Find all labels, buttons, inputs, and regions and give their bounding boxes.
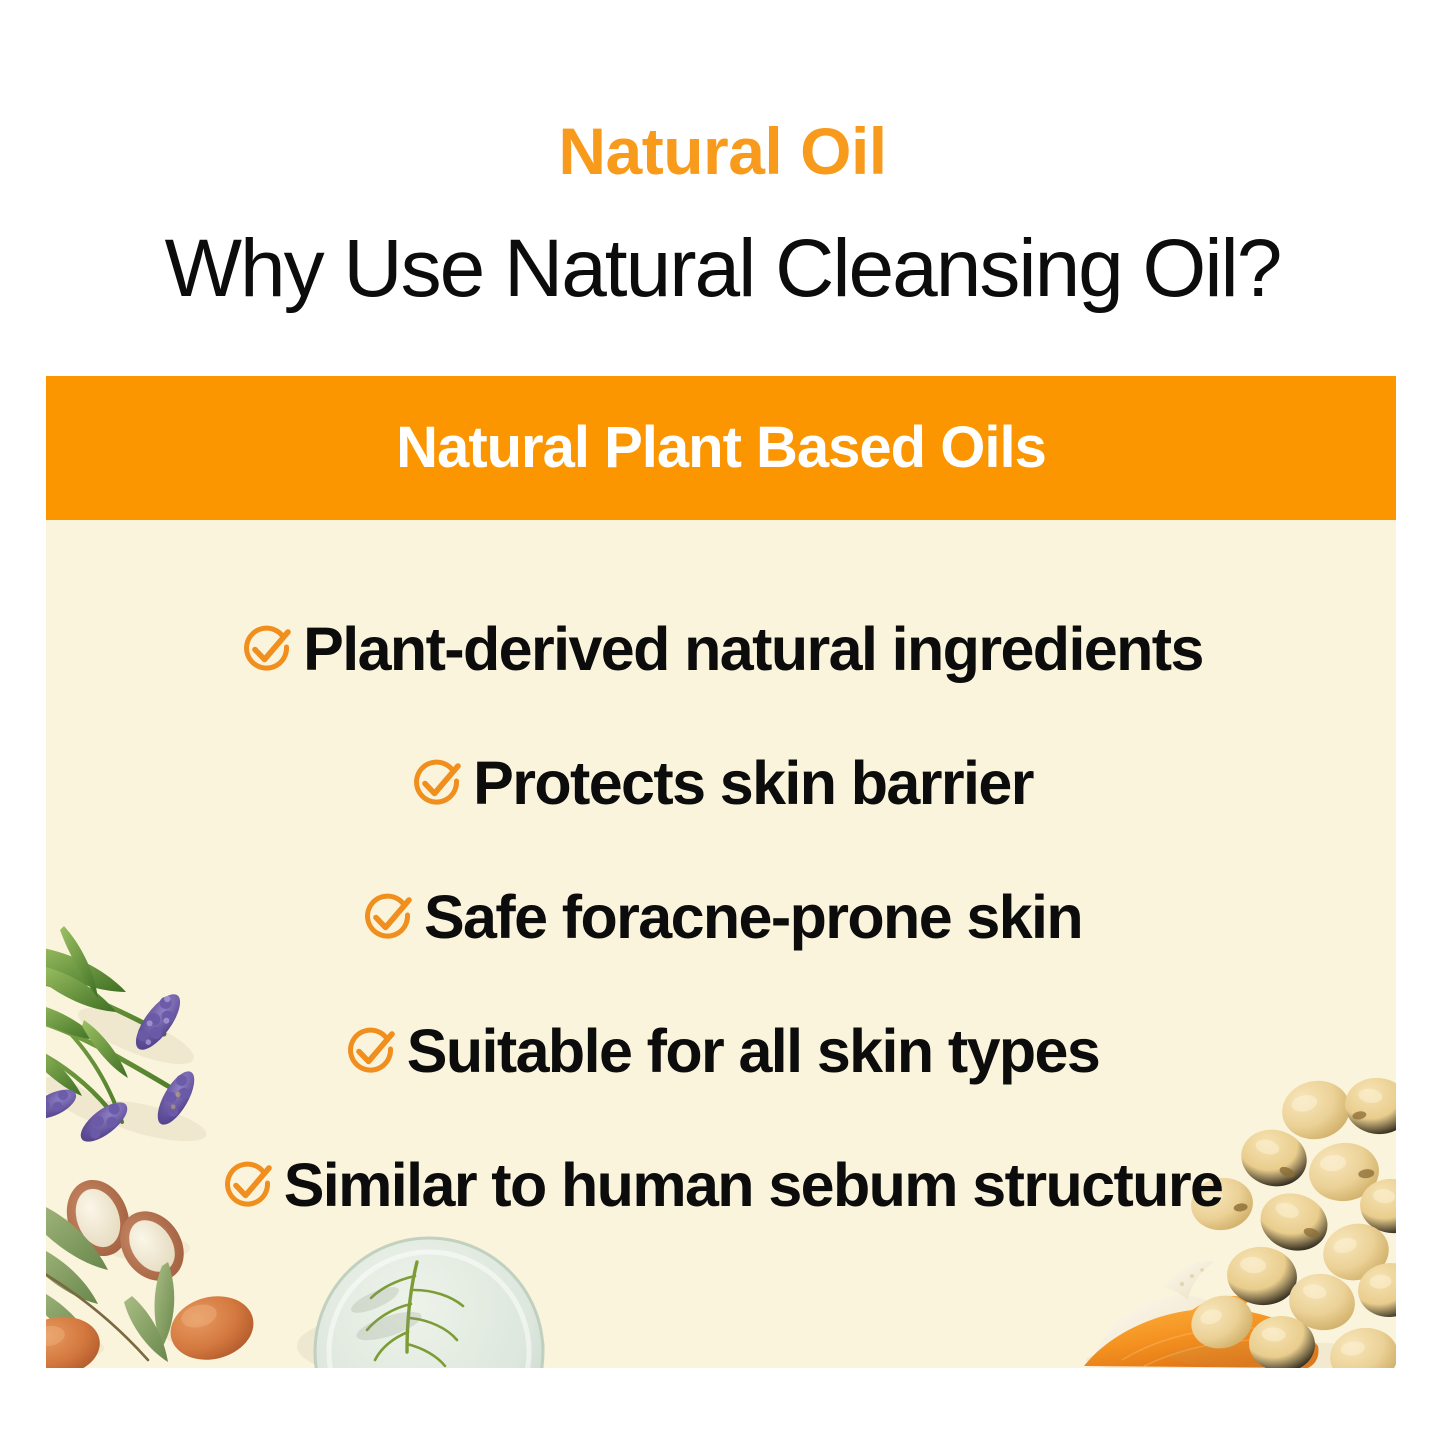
list-item-label: Suitable for all skin types: [407, 1021, 1099, 1082]
page-title: Why Use Natural Cleansing Oil?: [0, 228, 1445, 310]
list-item-label: Safe foracne-prone skin: [424, 887, 1082, 948]
benefits-card: Natural Plant Based Oils: [46, 376, 1396, 1368]
check-circle-icon: [239, 621, 295, 677]
infographic-page: Natural Oil Why Use Natural Cleansing Oi…: [0, 0, 1445, 1445]
heading-block: Natural Oil Why Use Natural Cleansing Oi…: [0, 118, 1445, 310]
list-item-label: Plant-derived natural ingredients: [303, 619, 1203, 680]
check-circle-icon: [360, 889, 416, 945]
list-item: Safe foracne-prone skin: [46, 850, 1396, 984]
list-item: Protects skin barrier: [46, 716, 1396, 850]
list-item-label: Protects skin barrier: [473, 753, 1033, 814]
check-circle-icon: [220, 1157, 276, 1213]
list-item-label: Similar to human sebum structure: [284, 1155, 1223, 1216]
card-header-title: Natural Plant Based Oils: [396, 419, 1046, 477]
card-header-band: Natural Plant Based Oils: [46, 376, 1396, 520]
list-item: Plant-derived natural ingredients: [46, 582, 1396, 716]
list-item: Similar to human sebum structure: [46, 1118, 1396, 1252]
check-circle-icon: [409, 755, 465, 811]
list-item: Suitable for all skin types: [46, 984, 1396, 1118]
benefits-list: Plant-derived natural ingredients Protec…: [46, 520, 1396, 1368]
check-circle-icon: [343, 1023, 399, 1079]
eyebrow-title: Natural Oil: [0, 118, 1445, 184]
